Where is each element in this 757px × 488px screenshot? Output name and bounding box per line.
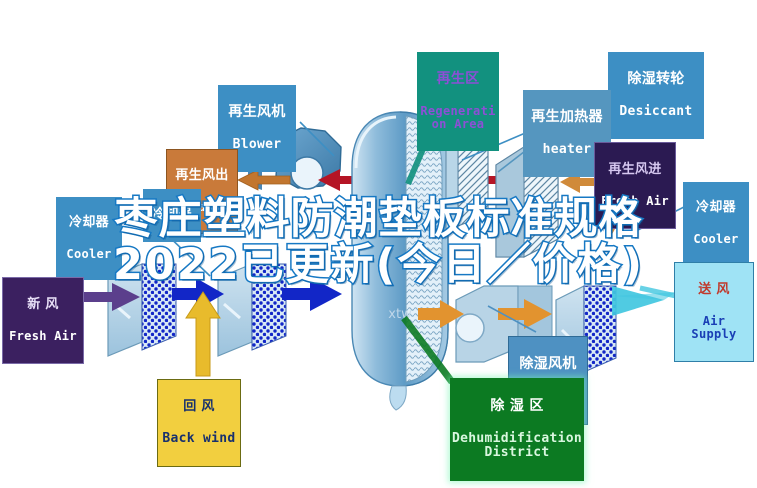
label-regeneration-area-en: Regenerati on Area [419,105,497,131]
label-air-supply-cn: 送 风 [677,283,751,297]
label-fresh-air-left: 新 风 Fresh Air [2,277,84,364]
return-air-arrow [186,292,220,376]
label-fresh-air-left-en: Fresh Air [5,330,81,343]
label-fresh-air-left-cn: 新 风 [5,298,81,312]
label-cooler-right-cn: 冷却器 [685,201,747,215]
label-fresh-air-right-cn: 再生风进 [597,163,673,177]
label-cooler-left-1: 冷却器 Cooler [56,197,122,280]
label-regen-exhaust-cn: 再生风出 [169,169,235,183]
process-arrow-2 [282,277,342,311]
label-dehum-blower-cn: 除湿风机 [511,357,585,372]
label-air-supply-en: Air Supply [677,315,751,341]
label-back-wind: 回 风 Back wind [157,379,241,467]
label-cooler-right: 冷却器 Cooler [683,182,749,265]
label-back-wind-en: Back wind [160,432,238,446]
label-cooler-left-1-cn: 冷却器 [58,216,120,230]
label-regeneration-area-cn: 再生区 [419,72,497,87]
process-cooler-left-2 [218,264,286,356]
label-desiccant-wheel-en: Desiccant [610,105,702,119]
label-cooler-right-en: Cooler [685,233,747,246]
label-cooler-left-2-cn: 冷却器 [145,208,199,222]
label-dehum-district-en: Dehumidification District [452,432,582,460]
label-dehum-district: 除 湿 区 Dehumidification District [450,378,584,481]
label-desiccant-wheel-cn: 除湿转轮 [610,72,702,87]
label-dehum-district-cn: 除 湿 区 [452,399,582,414]
label-regen-heater-cn: 再生加热器 [525,110,609,125]
label-air-supply: 送 风 Air Supply [674,262,754,362]
label-cooler-left-2: 冷却器 [143,189,201,242]
label-back-wind-cn: 回 风 [160,400,238,414]
label-fresh-air-right: 再生风进 Fresh Air [594,142,676,229]
label-desiccant-wheel: 除湿转轮 Desiccant [608,52,704,139]
label-regen-blower-cn: 再生风机 [220,105,294,120]
label-fresh-air-right-en: Fresh Air [597,195,673,208]
label-cooler-left-1-en: Cooler [58,248,120,261]
desiccant-rotor: xtw [352,112,448,410]
label-regeneration-area: 再生区 Regenerati on Area [417,52,499,151]
dehumidifier-schematic-image: xtw [0,0,757,488]
